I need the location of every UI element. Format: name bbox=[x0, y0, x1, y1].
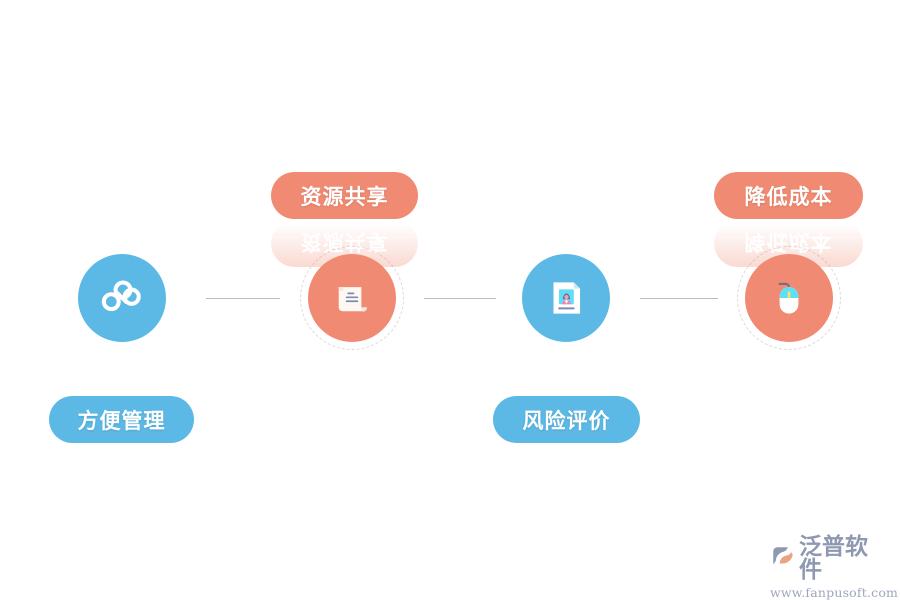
badge-risk-evaluation[interactable]: 风险评价 bbox=[493, 396, 640, 443]
node-circle-convenient-management[interactable] bbox=[78, 254, 166, 342]
connector-line-2-3 bbox=[424, 298, 496, 299]
computer-mouse-icon bbox=[764, 273, 814, 323]
id-card-document-icon bbox=[541, 273, 591, 323]
node-circle-resource-sharing[interactable] bbox=[308, 254, 396, 342]
node-circle-cost-reduction[interactable] bbox=[745, 254, 833, 342]
watermark-brand-text: 泛普软件 bbox=[799, 536, 890, 582]
watermark-url-text: www.fanpusoft.com bbox=[770, 585, 890, 600]
scroll-document-icon bbox=[327, 273, 377, 323]
connector-line-1-2 bbox=[206, 298, 280, 299]
badge-resource-sharing[interactable]: 资源共享 bbox=[271, 172, 418, 219]
watermark: 泛普软件 www.fanpusoft.com bbox=[770, 536, 890, 592]
diagram-canvas: 资源共享 资源共享 降低成本 降低成本 方便管理 风险评价 泛普软件 www.f… bbox=[0, 0, 900, 600]
connector-line-3-4 bbox=[640, 298, 718, 299]
chain-link-icon bbox=[97, 273, 147, 323]
badge-cost-reduction[interactable]: 降低成本 bbox=[714, 172, 863, 219]
fanpu-swoosh-logo-icon bbox=[770, 544, 796, 574]
badge-convenient-management[interactable]: 方便管理 bbox=[49, 396, 194, 443]
watermark-brand-row: 泛普软件 bbox=[770, 536, 890, 582]
node-circle-risk-evaluation[interactable] bbox=[522, 254, 610, 342]
